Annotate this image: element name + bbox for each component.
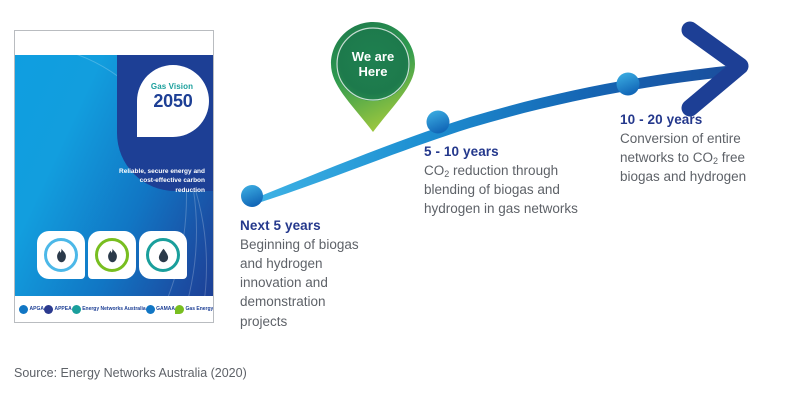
milestone-dot-3[interactable] [617,73,640,96]
report-cover-image: Gas Vision 2050 Reliable, secure energy … [14,30,214,323]
milestone-3-body-sub: 2 [713,156,718,166]
pin-label-line2: Here [359,64,388,79]
milestone-dot-1[interactable] [241,185,263,207]
cover-icon-tile [88,231,136,279]
cover-logo-strip: APGA APPEA Energy Networks Australia GAM… [15,296,213,322]
milestone-1-body: Beginning of biogas and hydrogen innovat… [240,235,365,331]
logo-label: APPEA [54,306,71,312]
logo-appea: APPEA [44,305,72,314]
gas-energy-mark [175,305,184,314]
pin-label-line1: We are [352,49,394,64]
flame-icon-blue [44,238,78,272]
milestone-2-title: 5 - 10 years [424,144,604,159]
logo-label: APGA [30,306,44,312]
cover-artwork: Gas Vision 2050 Reliable, secure energy … [15,55,213,300]
milestone-1-title: Next 5 years [240,218,365,233]
milestone-2-body-sub: 2 [444,169,449,179]
milestone-2-body: CO2 reduction through blending of biogas… [424,161,604,218]
logo-energy-networks-australia: Energy Networks Australia [72,305,146,314]
logo-gas-energy-australia: Gas Energy Australia [175,305,214,314]
arrow-head-icon [690,30,740,108]
gamaa-mark [146,305,155,314]
logo-label: Gas Energy Australia [186,306,214,312]
milestone-3: 10 - 20 years Conversion of entire netwo… [620,112,788,186]
milestone-3-title: 10 - 20 years [620,112,788,127]
cover-icon-row [37,231,187,279]
infographic-canvas: Gas Vision 2050 Reliable, secure energy … [0,0,800,400]
we-are-here-pin-label-group: We are Here [331,22,415,132]
milestone-1: Next 5 years Beginning of biogas and hyd… [240,218,365,331]
logo-apga: APGA [19,305,44,314]
appea-mark [44,305,53,314]
cover-title-gas-vision: Gas Vision [141,82,203,91]
milestone-3-body: Conversion of entire networks to CO2 fre… [620,129,788,186]
apga-mark [19,305,28,314]
droplet-icon-teal [146,238,180,272]
cover-icon-tile [37,231,85,279]
pin-label: We are Here [331,49,415,80]
flame-icon-green [95,238,129,272]
milestone-2-body-pre: CO [424,163,444,178]
milestone-2: 5 - 10 years CO2 reduction through blend… [424,144,604,218]
logo-label: Energy Networks Australia [82,306,145,312]
logo-label: GAMAA [156,306,175,312]
source-caption: Source: Energy Networks Australia (2020) [14,366,247,380]
milestone-dot-2[interactable] [427,111,450,134]
logo-gamaa: GAMAA [146,305,175,314]
energy-networks-mark [72,305,81,314]
cover-title-2050: 2050 [141,91,205,112]
cover-icon-tile [139,231,187,279]
cover-tagline: Reliable, secure energy and cost-effecti… [113,167,205,195]
